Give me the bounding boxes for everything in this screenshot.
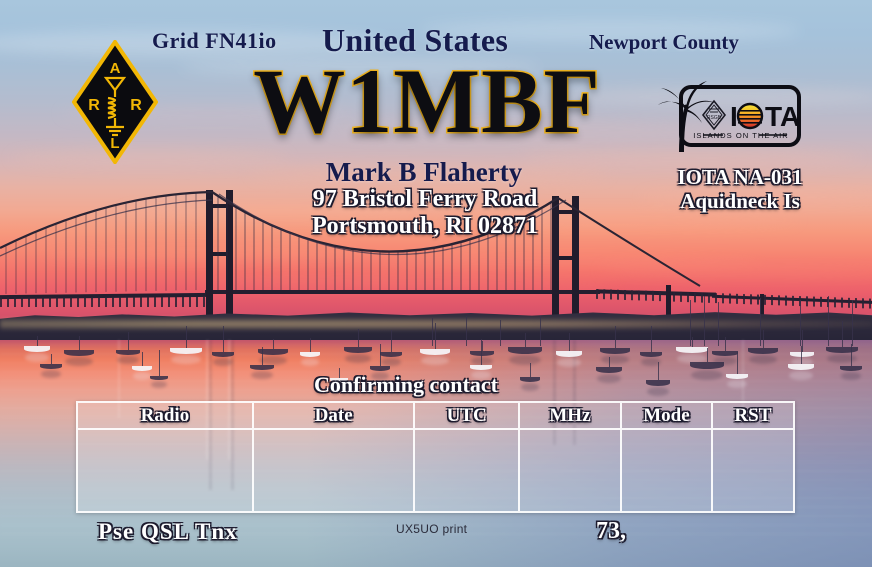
sailboat-mast	[432, 318, 433, 346]
boat-mast	[380, 344, 381, 366]
boat	[300, 352, 320, 357]
boat-mast	[481, 339, 482, 365]
boat-mast	[273, 339, 274, 349]
boat	[170, 348, 202, 354]
boat	[470, 351, 494, 356]
table-cell-rst[interactable]	[713, 430, 793, 511]
table-header-date: Date	[254, 403, 416, 428]
table-header-radio: Radio	[78, 403, 254, 428]
boat-hull	[826, 347, 858, 353]
boat-reflection	[421, 356, 449, 365]
confirming-contact-title: Confirming contact	[0, 372, 842, 398]
boat-mast	[569, 333, 570, 351]
boat-mast	[707, 348, 708, 362]
boat-mast	[186, 326, 187, 348]
boat-hull	[344, 347, 372, 353]
boat	[116, 350, 140, 355]
boat-mast	[142, 352, 143, 366]
table-header-label: UTC	[447, 405, 487, 427]
iota-reference: IOTA NA-031	[640, 165, 840, 190]
boat	[690, 362, 724, 369]
boat-hull	[380, 352, 402, 357]
boat-hull	[788, 364, 814, 370]
boat	[748, 348, 778, 354]
boat-hull	[508, 347, 542, 354]
boat-reflection	[65, 357, 93, 366]
sailboat-mast	[718, 302, 719, 346]
boat	[250, 365, 274, 370]
boat-mast	[128, 332, 129, 350]
table-header-label: Radio	[141, 405, 190, 427]
boat-reflection	[509, 355, 541, 365]
boat	[64, 350, 94, 356]
boat-mast	[651, 326, 652, 352]
boat	[790, 352, 814, 357]
boat-reflection	[841, 372, 861, 380]
boat-reflection	[827, 354, 857, 363]
sailboat-mast	[500, 320, 501, 346]
sailboat-mast	[828, 296, 829, 346]
boat-hull	[470, 351, 494, 356]
sailboat-mast	[466, 316, 467, 346]
table-header-row: RadioDateUTCMHzModeRST	[78, 403, 793, 430]
boat-mast	[615, 326, 616, 348]
boat	[420, 349, 450, 355]
boat	[840, 366, 862, 371]
boat-hull	[212, 352, 234, 357]
boat-mast	[609, 357, 610, 367]
boat-mast	[51, 354, 52, 364]
table-cell-mhz[interactable]	[520, 430, 622, 511]
boat-mast	[763, 330, 764, 348]
boat-mast	[842, 321, 843, 347]
boat-hull	[132, 366, 152, 371]
sailboat-mast	[800, 300, 801, 346]
boat	[40, 364, 62, 369]
boat-reflection	[171, 355, 201, 364]
boat-mast	[737, 352, 738, 374]
sailboat-mast	[690, 300, 691, 346]
boat-mast	[223, 326, 224, 352]
table-cell-date[interactable]	[254, 430, 416, 511]
boat-reflection	[749, 355, 777, 364]
table-header-mhz: MHz	[520, 403, 622, 428]
sailboat-mast	[852, 300, 853, 346]
table-cell-utc[interactable]	[415, 430, 519, 511]
boat-mast	[358, 329, 359, 347]
table-header-utc: UTC	[415, 403, 519, 428]
table-header-label: MHz	[549, 405, 590, 427]
table-body-row	[78, 430, 793, 511]
boat	[24, 346, 50, 352]
water-ripple	[0, 344, 872, 346]
boat-reflection	[301, 358, 319, 366]
boat-hull	[600, 348, 630, 354]
boat	[712, 351, 738, 356]
signoff-label: 73,	[596, 518, 626, 545]
boat-hull	[420, 349, 450, 355]
boat-hull	[676, 347, 708, 353]
boat-hull	[64, 350, 94, 356]
boat	[600, 348, 630, 354]
callsign-text: W1MBF	[253, 55, 600, 147]
contact-log-table: RadioDateUTCMHzModeRST	[76, 401, 795, 513]
boat-mast	[692, 337, 693, 347]
boat	[344, 347, 372, 353]
boat-hull	[690, 362, 724, 369]
boat-hull	[556, 351, 582, 357]
boat-reflection	[345, 354, 371, 363]
boat	[380, 352, 402, 357]
boat	[132, 366, 152, 371]
boat-reflection	[25, 353, 49, 362]
boat-mast	[851, 344, 852, 366]
table-header-label: Date	[315, 405, 353, 427]
boat-mast	[79, 336, 80, 350]
boat-mast	[525, 333, 526, 347]
table-header-rst: RST	[713, 403, 793, 428]
qsl-card: A R R L	[0, 0, 872, 567]
sailboat-mast	[540, 316, 541, 346]
boat-hull	[116, 350, 140, 355]
print-credit-label: UX5UO print	[396, 522, 467, 536]
boat	[470, 365, 492, 370]
boat-mast	[262, 347, 263, 365]
boat-hull	[250, 365, 274, 370]
boat-mast	[310, 338, 311, 352]
callsign: W1MBF	[0, 55, 872, 147]
boat-hull	[40, 364, 62, 369]
boat	[676, 347, 708, 353]
boat	[640, 352, 662, 357]
shore-lights-glow	[0, 316, 872, 332]
boat	[826, 347, 858, 353]
boat-hull	[370, 366, 390, 371]
boat-hull	[748, 348, 778, 354]
boat-reflection	[471, 357, 493, 365]
boat-mast	[435, 323, 436, 349]
boat	[556, 351, 582, 357]
boat-mast	[801, 346, 802, 364]
boat-hull	[790, 352, 814, 357]
boat-mast	[802, 330, 803, 352]
boat-reflection	[557, 358, 581, 367]
boat-mast	[37, 336, 38, 346]
boat-reflection	[601, 355, 629, 364]
boat-hull	[470, 365, 492, 370]
table-header-label: RST	[734, 405, 771, 427]
boat-hull	[170, 348, 202, 354]
boat-hull	[840, 366, 862, 371]
boat-reflection	[117, 356, 139, 364]
boat-reflection	[381, 358, 401, 366]
pse-qsl-tnx-label: Pse QSL Tnx	[98, 519, 238, 545]
sailboat-mast	[704, 296, 705, 346]
boat	[212, 352, 234, 357]
boat-reflection	[213, 358, 233, 366]
table-header-label: Mode	[643, 405, 689, 427]
boat-hull	[712, 351, 738, 356]
table-header-mode: Mode	[622, 403, 713, 428]
boat-mast	[391, 330, 392, 352]
boat	[370, 366, 390, 371]
county-label: Newport County	[589, 30, 739, 55]
water-ripple	[0, 515, 872, 517]
table-cell-radio[interactable]	[78, 430, 254, 511]
boat-mast	[725, 337, 726, 351]
boat-reflection	[259, 356, 287, 365]
iota-island-name: Aquidneck Is	[640, 189, 840, 214]
water-ripple	[0, 398, 872, 400]
boat	[788, 364, 814, 370]
operator-address-line2: Portsmouth, RI 02871	[0, 213, 861, 240]
table-cell-mode[interactable]	[622, 430, 713, 511]
boat-mast	[482, 341, 483, 351]
boat-hull	[640, 352, 662, 357]
boat-hull	[300, 352, 320, 357]
boat	[508, 347, 542, 354]
boat-hull	[24, 346, 50, 352]
sailboat-mast	[760, 298, 761, 346]
